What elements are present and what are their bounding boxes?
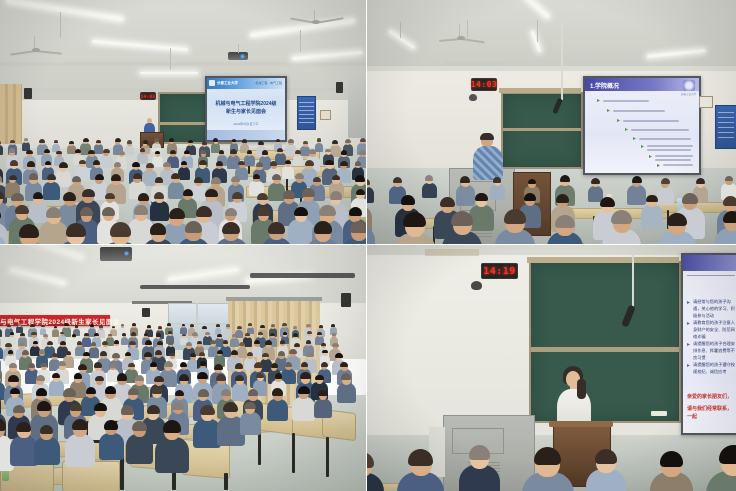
hair bbox=[213, 138, 218, 141]
slide-bullet-3: 请提醒您的孩子合理安排作息、挥霍浪费等不良习惯 bbox=[693, 340, 736, 361]
hair bbox=[278, 351, 285, 356]
hair bbox=[260, 325, 265, 328]
wall-speaker bbox=[336, 82, 343, 93]
logo-caption: 长春工业大学 bbox=[681, 92, 696, 96]
hair bbox=[156, 333, 161, 336]
hair bbox=[425, 175, 433, 180]
hair bbox=[46, 207, 61, 218]
hair bbox=[528, 179, 536, 185]
torso bbox=[94, 144, 103, 153]
hair bbox=[96, 140, 101, 143]
hair bbox=[112, 326, 116, 329]
hair bbox=[556, 194, 569, 203]
torso bbox=[490, 184, 505, 200]
hair bbox=[280, 340, 286, 344]
hair bbox=[39, 349, 45, 353]
hair bbox=[47, 341, 53, 345]
hair bbox=[214, 364, 223, 370]
hair bbox=[256, 162, 263, 167]
hair bbox=[504, 209, 526, 224]
torso bbox=[34, 437, 60, 465]
wall-speaker bbox=[341, 293, 351, 307]
hair bbox=[270, 333, 275, 336]
hair bbox=[632, 176, 642, 183]
hair bbox=[591, 178, 599, 184]
wall-speaker bbox=[24, 88, 32, 99]
torso bbox=[100, 155, 112, 168]
hair bbox=[198, 389, 209, 396]
hair bbox=[696, 178, 704, 184]
hair bbox=[231, 176, 240, 182]
hair bbox=[595, 449, 617, 464]
hair bbox=[13, 405, 25, 413]
hair bbox=[103, 149, 110, 154]
hair bbox=[132, 421, 147, 431]
ceiling-beam bbox=[367, 66, 736, 71]
hair bbox=[289, 349, 296, 354]
hair bbox=[45, 161, 51, 165]
projection-screen: 长春工业大学 机械工程 · 电气工程 机械与电气工程学院2024级 新生与家长见… bbox=[205, 76, 287, 142]
hair bbox=[75, 325, 79, 328]
hair bbox=[272, 174, 281, 180]
hair bbox=[192, 332, 198, 336]
hair bbox=[300, 372, 310, 379]
hair bbox=[254, 340, 260, 344]
hair bbox=[332, 333, 336, 336]
hair bbox=[119, 151, 125, 155]
digital-clock: 14:03 bbox=[471, 78, 497, 91]
torso bbox=[65, 434, 96, 467]
hair bbox=[723, 196, 736, 206]
hair bbox=[135, 375, 145, 382]
hair bbox=[196, 206, 212, 217]
hair bbox=[524, 193, 536, 201]
hair bbox=[163, 162, 171, 167]
hair bbox=[88, 150, 94, 154]
chalkboard-top-frame bbox=[527, 257, 679, 263]
lecture-hall-wide-scene: 长春工业大学 机械工程 · 电气工程 机械与电气工程学院2024级 新生与家长见… bbox=[0, 0, 366, 244]
hair bbox=[238, 161, 245, 166]
hair bbox=[248, 389, 258, 396]
hair bbox=[146, 163, 154, 168]
hair bbox=[131, 332, 136, 336]
hair bbox=[440, 197, 455, 207]
hair bbox=[202, 141, 207, 145]
hair bbox=[125, 352, 131, 356]
torso bbox=[337, 383, 356, 404]
hair bbox=[232, 139, 236, 142]
hair bbox=[197, 341, 202, 344]
hair bbox=[105, 193, 115, 199]
hair bbox=[272, 388, 283, 396]
hair bbox=[180, 362, 187, 367]
hair bbox=[110, 222, 131, 236]
security-camera-icon bbox=[469, 94, 477, 101]
hair bbox=[202, 326, 206, 329]
hair bbox=[661, 178, 670, 184]
hair bbox=[322, 350, 328, 354]
hair bbox=[451, 211, 472, 225]
torso bbox=[422, 183, 437, 199]
hair bbox=[341, 150, 347, 154]
light-rod bbox=[60, 12, 61, 38]
hair bbox=[9, 148, 16, 153]
hair bbox=[10, 160, 19, 166]
hair bbox=[152, 386, 163, 393]
university-logo-icon bbox=[683, 80, 695, 91]
torso bbox=[0, 329, 2, 337]
torso bbox=[469, 205, 493, 231]
side-wall bbox=[348, 74, 366, 138]
hair bbox=[285, 160, 291, 164]
hair bbox=[217, 334, 222, 337]
torso bbox=[155, 437, 189, 473]
projector-mount bbox=[238, 44, 239, 53]
light-rod bbox=[170, 48, 171, 70]
wall-stain bbox=[425, 249, 479, 256]
hair bbox=[145, 340, 152, 345]
hair bbox=[254, 362, 263, 368]
hair bbox=[221, 389, 231, 396]
ponytail bbox=[577, 379, 586, 399]
hair bbox=[276, 139, 280, 142]
torso bbox=[252, 346, 263, 357]
hair bbox=[219, 150, 224, 154]
hair bbox=[44, 149, 50, 153]
hair bbox=[200, 361, 206, 365]
hair bbox=[301, 362, 308, 367]
chalkboard bbox=[501, 92, 583, 169]
cabinet-side bbox=[429, 427, 445, 477]
bulletin-board bbox=[715, 105, 736, 149]
hair bbox=[170, 150, 176, 154]
hair bbox=[8, 350, 14, 354]
hair bbox=[268, 222, 284, 233]
torso bbox=[267, 399, 288, 421]
hair bbox=[349, 207, 362, 216]
hair bbox=[9, 363, 17, 369]
slide-title-line1: 机械与电气工程学院2024级 bbox=[207, 100, 285, 107]
hair bbox=[33, 341, 38, 345]
hair bbox=[237, 326, 241, 329]
hair bbox=[285, 362, 293, 367]
hair bbox=[56, 151, 61, 155]
hair bbox=[169, 138, 174, 142]
hair bbox=[117, 373, 128, 380]
hair bbox=[245, 333, 250, 336]
slide-subtitle: 2024年9月1日下午 bbox=[207, 122, 285, 126]
hair bbox=[9, 175, 17, 181]
hair bbox=[305, 160, 314, 166]
hair bbox=[83, 138, 89, 142]
hair bbox=[39, 139, 45, 143]
panel-bottom-left: 机械与电气工程学院2024级新生家长见面会 bbox=[0, 245, 367, 491]
hair bbox=[232, 334, 237, 337]
hair bbox=[356, 189, 366, 195]
hair bbox=[288, 139, 294, 143]
hair bbox=[36, 375, 45, 381]
hair bbox=[232, 192, 242, 199]
hair bbox=[226, 324, 231, 327]
hair bbox=[341, 373, 351, 380]
projection-screen: 请经常与您的孩子沟通，关心他的学习、积极参与活动 请教育您的孩子注意人身财产的安… bbox=[681, 253, 736, 435]
hair bbox=[475, 193, 488, 202]
hair bbox=[75, 149, 81, 153]
torso bbox=[282, 166, 294, 179]
hair bbox=[331, 324, 335, 327]
hair bbox=[59, 162, 68, 168]
hair bbox=[155, 151, 161, 155]
hair bbox=[110, 363, 117, 368]
hair bbox=[257, 193, 268, 201]
hair bbox=[325, 160, 334, 166]
hair bbox=[94, 403, 107, 412]
lectern-top bbox=[549, 421, 613, 427]
female-speaker-scene: 14:19 请经常与您的孩子沟通，关心他的学习、积极参与活动 请教育您的孩子注意… bbox=[367, 245, 736, 491]
hair bbox=[210, 340, 216, 344]
hair bbox=[102, 341, 108, 345]
chalk-eraser bbox=[651, 411, 667, 416]
hair bbox=[283, 190, 295, 198]
hair bbox=[332, 343, 338, 347]
hair bbox=[194, 177, 202, 183]
hair bbox=[555, 215, 574, 228]
panel-top-right: 14:03 1.学院概况 长春工业大学 bbox=[367, 0, 736, 245]
hair bbox=[52, 353, 58, 357]
torso bbox=[230, 338, 239, 347]
light-rod bbox=[300, 30, 301, 52]
hair bbox=[197, 372, 207, 379]
hair bbox=[115, 138, 121, 142]
hair bbox=[271, 363, 278, 368]
hair bbox=[332, 175, 340, 180]
hair bbox=[184, 150, 190, 154]
hair bbox=[340, 362, 348, 367]
torso bbox=[292, 397, 315, 422]
hair bbox=[469, 445, 491, 460]
hair bbox=[94, 333, 99, 336]
ceiling bbox=[367, 0, 736, 72]
hair bbox=[293, 326, 297, 329]
hair bbox=[319, 325, 323, 328]
wall-poster bbox=[320, 110, 331, 120]
hair bbox=[29, 173, 38, 179]
hair bbox=[302, 188, 314, 196]
hair bbox=[172, 402, 183, 410]
hair bbox=[112, 353, 120, 358]
hair bbox=[315, 375, 324, 381]
hair bbox=[30, 324, 35, 327]
digital-clock: 14:19 bbox=[481, 263, 518, 279]
hair bbox=[74, 373, 83, 379]
torso bbox=[121, 337, 129, 345]
hair bbox=[79, 160, 86, 165]
hair bbox=[309, 149, 316, 154]
hair bbox=[335, 353, 342, 358]
hair bbox=[80, 207, 93, 216]
hair bbox=[321, 362, 328, 367]
hair bbox=[155, 177, 163, 183]
hair bbox=[253, 174, 261, 179]
male-speaker-scene: 14:03 1.学院概况 长春工业大学 bbox=[367, 0, 736, 244]
hair bbox=[480, 133, 494, 140]
hair bbox=[306, 352, 313, 357]
hair bbox=[93, 160, 100, 165]
hair bbox=[239, 342, 245, 346]
hair bbox=[66, 351, 72, 355]
hair bbox=[99, 325, 103, 328]
hair bbox=[8, 375, 18, 382]
hair bbox=[401, 195, 415, 205]
hair bbox=[144, 333, 148, 336]
hair bbox=[60, 341, 66, 345]
slide-header-bar bbox=[683, 255, 736, 271]
torso bbox=[456, 185, 475, 205]
hair bbox=[114, 340, 119, 343]
slide-bullet-2: 请教育您的孩子注意人身财产的安全、防范网络诈骗 bbox=[693, 319, 736, 340]
ceiling-beam bbox=[0, 62, 367, 66]
hair bbox=[185, 221, 203, 233]
torso bbox=[125, 145, 135, 155]
hair bbox=[147, 405, 160, 414]
bulletin-board bbox=[297, 96, 316, 130]
hair bbox=[94, 362, 103, 368]
hair bbox=[134, 205, 148, 215]
hair bbox=[95, 174, 104, 180]
hair bbox=[72, 334, 76, 337]
hair bbox=[10, 140, 15, 143]
torso bbox=[43, 182, 60, 200]
hair bbox=[223, 340, 229, 344]
hair bbox=[150, 223, 167, 234]
hair bbox=[725, 176, 733, 182]
torso bbox=[657, 187, 674, 205]
hair bbox=[10, 332, 14, 335]
hair bbox=[199, 160, 207, 165]
hair bbox=[350, 221, 367, 234]
hair bbox=[105, 386, 117, 394]
hair bbox=[235, 375, 244, 381]
hair bbox=[183, 189, 193, 196]
hair bbox=[355, 161, 361, 165]
hair bbox=[325, 149, 331, 153]
hair bbox=[293, 333, 299, 337]
hair bbox=[258, 141, 264, 145]
hair bbox=[158, 326, 162, 329]
hair bbox=[26, 150, 33, 154]
hair bbox=[179, 374, 189, 381]
hair bbox=[182, 324, 186, 326]
hair bbox=[345, 139, 351, 143]
curtain-rail bbox=[226, 297, 322, 301]
chalkboard-top-frame bbox=[499, 88, 581, 93]
hair bbox=[175, 390, 184, 396]
hair bbox=[121, 324, 125, 327]
clock-time: 14:19 bbox=[483, 266, 516, 277]
hair bbox=[205, 189, 217, 197]
hair bbox=[283, 332, 287, 335]
hair bbox=[64, 323, 69, 326]
hair bbox=[41, 325, 45, 327]
hair bbox=[169, 353, 175, 357]
hair bbox=[258, 332, 264, 336]
hair bbox=[147, 325, 151, 328]
hair bbox=[33, 192, 44, 199]
clock-time: 14:03 bbox=[471, 80, 498, 89]
hair bbox=[171, 173, 180, 179]
hair bbox=[10, 388, 19, 394]
torso bbox=[126, 434, 154, 463]
hair bbox=[332, 140, 338, 144]
projector bbox=[228, 52, 248, 60]
university-logo-icon bbox=[209, 80, 215, 86]
hair bbox=[294, 207, 308, 216]
hair bbox=[660, 451, 683, 467]
hair bbox=[22, 350, 29, 355]
hair bbox=[303, 141, 308, 145]
hair bbox=[600, 197, 615, 207]
hair bbox=[164, 361, 173, 367]
torso bbox=[89, 347, 99, 358]
hair bbox=[138, 193, 149, 201]
hair bbox=[560, 175, 570, 182]
slide-title: 1.学院概况 bbox=[590, 81, 619, 90]
projection-screen: 1.学院概况 长春工业大学 bbox=[583, 76, 701, 175]
hair bbox=[63, 388, 76, 397]
ceiling-track bbox=[140, 285, 250, 289]
hair bbox=[314, 221, 333, 234]
hair bbox=[216, 374, 226, 381]
torso bbox=[641, 205, 663, 228]
hair bbox=[313, 177, 321, 183]
hair bbox=[262, 353, 268, 357]
hair bbox=[270, 161, 277, 166]
hair bbox=[154, 138, 159, 141]
hair bbox=[190, 353, 197, 358]
torso bbox=[240, 412, 261, 435]
slide-closing-line2: 请与我们经常联系，一起 bbox=[687, 405, 736, 421]
hair bbox=[460, 176, 470, 183]
hair bbox=[646, 195, 658, 203]
microphone-cord bbox=[632, 245, 634, 307]
torso bbox=[168, 182, 185, 200]
security-camera-icon bbox=[471, 281, 482, 290]
hair bbox=[403, 212, 426, 227]
hair bbox=[225, 208, 237, 216]
hair bbox=[168, 331, 172, 334]
hair bbox=[295, 150, 300, 154]
torso bbox=[293, 155, 303, 166]
hair bbox=[154, 376, 163, 382]
hair bbox=[104, 420, 117, 429]
torso bbox=[39, 221, 68, 245]
torso bbox=[49, 380, 64, 396]
hair bbox=[230, 149, 237, 154]
torso bbox=[244, 155, 255, 166]
hair bbox=[150, 362, 158, 367]
hair bbox=[182, 334, 186, 337]
hair bbox=[19, 224, 40, 238]
panel-bottom-right: 14:19 请经常与您的孩子沟通，关心他的学习、积极参与活动 请教育您的孩子注意… bbox=[367, 245, 736, 491]
hair bbox=[86, 387, 96, 394]
hair bbox=[58, 361, 66, 366]
slide-bullet-1: 请经常与您的孩子沟通，关心他的学习、积极参与活动 bbox=[693, 298, 736, 319]
hair bbox=[20, 333, 25, 336]
hair bbox=[52, 373, 60, 378]
hair bbox=[140, 148, 145, 152]
hair bbox=[360, 138, 366, 142]
hair bbox=[129, 341, 136, 346]
